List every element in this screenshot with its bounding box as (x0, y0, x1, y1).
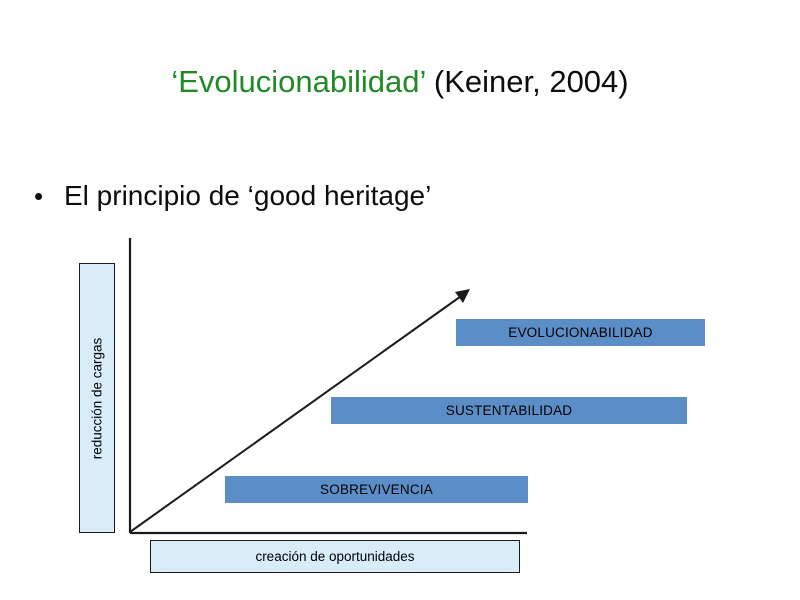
y-axis-label-box: reducción de cargas (79, 263, 115, 533)
x-axis-label-box: creación de oportunidades (150, 540, 520, 573)
y-axis-label-text: reducción de cargas (90, 337, 105, 459)
axes-and-arrow (0, 0, 800, 600)
x-axis-label-text: creación de oportunidades (255, 549, 414, 564)
growth-arrow-head-icon (455, 289, 470, 303)
bar-evolucionabilidad: EVOLUCIONABILIDAD (456, 319, 705, 346)
bar-sustentabilidad: SUSTENTABILIDAD (331, 397, 687, 424)
slide-canvas: ‘Evolucionabilidad’ (Keiner, 2004) • El … (0, 0, 800, 600)
evolvability-diagram: reducción de cargas creación de oportuni… (0, 0, 800, 600)
bar-sobrevivencia: SOBREVIVENCIA (225, 476, 528, 503)
